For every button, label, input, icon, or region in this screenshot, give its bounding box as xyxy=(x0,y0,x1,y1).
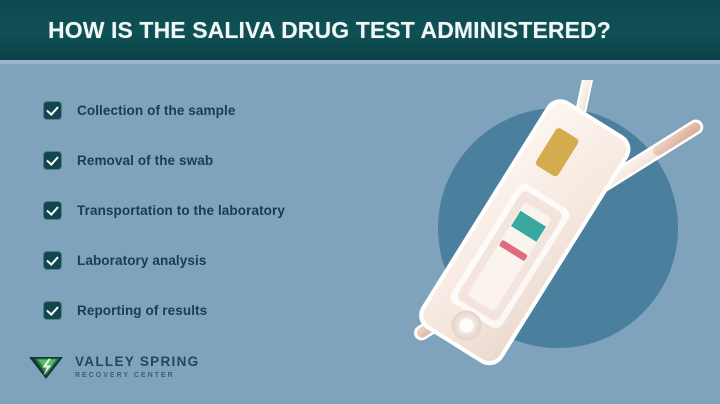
checkmark-icon[interactable] xyxy=(44,102,61,119)
header-divider xyxy=(0,60,720,64)
checkmark-icon[interactable] xyxy=(44,252,61,269)
list-item[interactable]: Reporting of results xyxy=(44,296,404,324)
list-item-label: Transportation to the laboratory xyxy=(77,203,285,218)
list-item[interactable]: Removal of the swab xyxy=(44,146,404,174)
checkmark-icon[interactable] xyxy=(44,152,61,169)
list-item[interactable]: Collection of the sample xyxy=(44,96,404,124)
infographic-page: HOW IS THE SALIVA DRUG TEST ADMINISTERED… xyxy=(0,0,720,404)
list-item-label: Collection of the sample xyxy=(77,103,235,118)
saliva-test-kit-illustration xyxy=(410,80,710,380)
list-item[interactable]: Laboratory analysis xyxy=(44,246,404,274)
page-title: HOW IS THE SALIVA DRUG TEST ADMINISTERED… xyxy=(48,17,611,44)
logo-name: VALLEY SPRING xyxy=(75,355,199,370)
checkmark-icon[interactable] xyxy=(44,202,61,219)
list-item[interactable]: Transportation to the laboratory xyxy=(44,196,404,224)
checkmark-icon[interactable] xyxy=(44,302,61,319)
logo-subtitle: RECOVERY CENTER xyxy=(75,372,199,379)
valley-spring-logo-icon xyxy=(26,352,66,382)
list-item-label: Laboratory analysis xyxy=(77,253,206,268)
brand-logo[interactable]: VALLEY SPRING RECOVERY CENTER xyxy=(26,352,199,382)
checklist: Collection of the sample Removal of the … xyxy=(44,96,404,346)
list-item-label: Reporting of results xyxy=(77,303,207,318)
logo-text-block: VALLEY SPRING RECOVERY CENTER xyxy=(75,355,199,380)
list-item-label: Removal of the swab xyxy=(77,153,213,168)
header-bar: HOW IS THE SALIVA DRUG TEST ADMINISTERED… xyxy=(0,0,720,60)
